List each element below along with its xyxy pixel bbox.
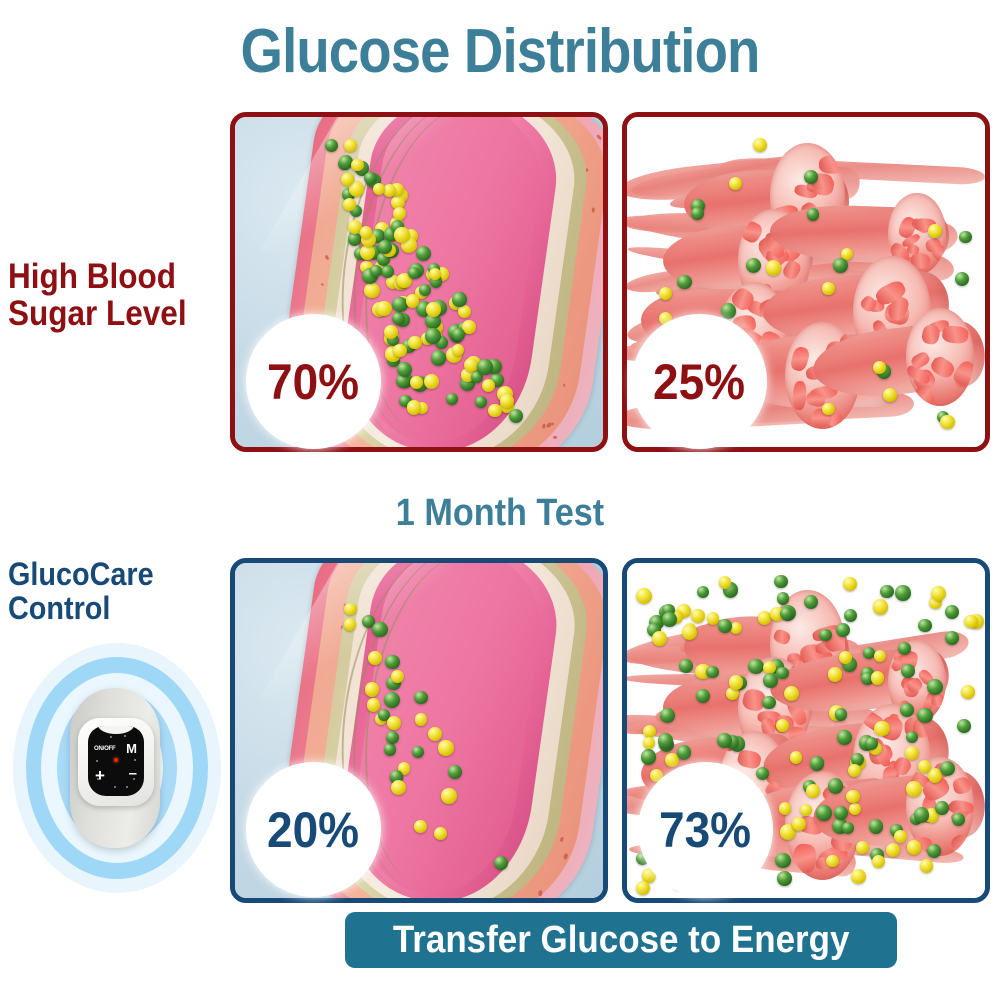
glucose-molecule xyxy=(775,853,790,868)
glucose-molecule xyxy=(488,404,501,417)
glucose-molecule xyxy=(753,138,767,152)
glucose-molecule xyxy=(636,881,650,895)
glucose-molecule xyxy=(729,675,743,689)
glucose-molecule xyxy=(763,673,778,688)
glucose-molecule xyxy=(776,719,789,732)
row-label-glucocare-control: GlucoCare Control xyxy=(8,558,215,626)
glucose-molecule xyxy=(415,713,427,725)
glucose-molecule xyxy=(384,692,400,708)
glucose-molecule xyxy=(378,240,392,254)
glucose-molecule xyxy=(822,403,834,415)
glucose-molecule xyxy=(918,760,931,773)
glucose-molecule xyxy=(360,226,372,238)
percentage-badge-20: 20% xyxy=(246,762,381,897)
glucose-molecule xyxy=(927,679,943,695)
percentage-badge-70: 70% xyxy=(246,314,381,449)
glucose-molecule xyxy=(717,733,732,748)
glucose-molecule xyxy=(652,631,667,646)
glucose-molecule xyxy=(376,301,391,316)
glucose-molecule xyxy=(917,708,932,723)
glucose-molecule xyxy=(351,159,364,172)
glucose-molecule xyxy=(833,258,848,273)
glucose-molecule xyxy=(660,708,675,723)
glucose-molecule xyxy=(931,586,946,601)
glucose-molecule xyxy=(410,376,423,389)
glucose-molecule xyxy=(940,415,954,429)
glucose-molecule xyxy=(697,586,709,598)
glucose-molecule xyxy=(677,745,691,759)
glucose-molecule xyxy=(959,231,971,243)
glucose-molecule xyxy=(643,725,656,738)
glucose-molecule xyxy=(494,856,508,870)
glucose-molecule xyxy=(907,840,921,854)
glucose-molecule xyxy=(718,619,731,632)
glucose-molecule xyxy=(906,781,922,797)
glucose-molecule xyxy=(835,708,847,720)
glucose-molecule xyxy=(416,246,431,261)
glucose-molecule xyxy=(790,751,803,764)
bottom-banner: Transfer Glucose to Energy xyxy=(345,912,897,968)
glucose-molecule xyxy=(477,359,493,375)
glucose-molecule xyxy=(452,292,466,306)
device-on-off-button[interactable]: ON/OFF xyxy=(94,746,115,752)
percentage-badge-73: 73% xyxy=(638,762,773,897)
glucose-molecule xyxy=(393,344,406,357)
glucose-molecule xyxy=(920,859,933,872)
glucose-molecule xyxy=(438,740,453,755)
page-title: Glucose Distribution xyxy=(60,16,940,87)
glucose-molecule xyxy=(428,727,442,741)
glucose-molecule xyxy=(918,619,932,633)
glucose-molecule xyxy=(407,400,422,415)
glucose-molecule xyxy=(393,207,406,220)
row-label-high-blood-sugar: High Blood Sugar Level xyxy=(8,258,215,332)
glucose-molecule xyxy=(344,603,356,615)
glucose-molecule xyxy=(844,609,857,622)
glucose-molecule xyxy=(880,585,894,599)
glucose-molecule xyxy=(955,272,969,286)
glucose-molecule xyxy=(384,743,397,756)
glucose-molecule xyxy=(706,666,718,678)
glucose-molecule xyxy=(928,224,942,238)
glucose-molecule xyxy=(900,703,914,717)
glucose-molecule xyxy=(408,336,421,349)
glucose-molecule xyxy=(391,780,406,795)
glucose-molecule xyxy=(748,659,763,674)
glucose-molecule xyxy=(431,350,446,365)
percentage-badge-25: 25% xyxy=(632,314,767,449)
glucose-molecule xyxy=(365,682,379,696)
glucocare-device-image: ON/OFF M + – xyxy=(12,640,222,895)
glucose-molecule xyxy=(677,275,691,289)
glucose-molecule xyxy=(927,844,941,858)
glucose-molecule xyxy=(360,245,375,260)
glucose-molecule xyxy=(394,227,409,242)
glucose-molecule xyxy=(826,855,839,868)
glucose-molecule xyxy=(914,807,930,823)
glucose-molecule xyxy=(898,642,911,655)
glucose-molecule xyxy=(873,361,886,374)
glucose-molecule xyxy=(792,817,806,831)
glucose-molecule xyxy=(777,871,792,886)
glucose-molecule xyxy=(848,764,861,777)
glucose-molecule xyxy=(641,749,656,764)
glucose-molecule xyxy=(368,651,381,664)
glucose-molecule xyxy=(370,265,382,277)
device-control-panel: ON/OFF M + – xyxy=(88,726,144,796)
glucose-molecule xyxy=(961,685,975,699)
glucose-molecule xyxy=(414,691,428,705)
glucose-molecule xyxy=(873,599,888,614)
glucose-molecule xyxy=(874,721,890,737)
glucose-molecule xyxy=(387,716,401,730)
glucose-molecule xyxy=(957,719,971,733)
glucose-molecule xyxy=(816,805,831,820)
middle-label-1-month-test: 1 Month Test xyxy=(50,492,950,535)
glucose-molecule xyxy=(397,362,412,377)
glucose-molecule xyxy=(367,698,381,712)
glucose-molecule xyxy=(364,172,377,185)
glucose-molecule xyxy=(945,631,959,645)
glucose-molecule xyxy=(849,803,861,815)
glucose-molecule xyxy=(341,173,354,186)
device-mode-button[interactable]: M xyxy=(126,742,137,755)
glucose-molecule xyxy=(425,328,441,344)
glucose-molecule xyxy=(343,198,356,211)
glucose-molecule xyxy=(842,822,854,834)
glucose-molecule xyxy=(828,667,842,681)
glucose-molecule xyxy=(839,651,852,664)
glucose-molecule xyxy=(819,629,831,641)
glucose-molecule xyxy=(762,696,775,709)
glucose-molecule xyxy=(662,612,677,627)
device-led-indicator xyxy=(114,758,118,762)
glucose-molecule xyxy=(721,303,737,319)
glucose-molecule xyxy=(834,806,848,820)
glucose-molecule xyxy=(810,756,825,771)
glucose-molecule xyxy=(441,788,457,804)
glucose-molecule xyxy=(779,802,791,814)
glucose-molecule xyxy=(871,671,884,684)
glucose-molecule xyxy=(836,623,850,637)
glucose-molecule xyxy=(894,830,907,843)
glucose-molecule xyxy=(643,737,655,749)
glucose-molecule xyxy=(780,607,793,620)
glucose-molecule xyxy=(424,374,439,389)
glucose-molecule xyxy=(392,312,405,325)
glucose-molecule xyxy=(719,576,731,588)
glucose-molecule xyxy=(381,265,394,278)
glucose-molecule xyxy=(766,260,781,275)
device-plus-button[interactable]: + xyxy=(95,767,105,784)
glucose-molecule xyxy=(883,388,897,402)
glucose-molecule xyxy=(828,778,844,794)
glucose-molecule xyxy=(869,819,883,833)
glucose-molecule xyxy=(691,609,704,622)
glucose-molecule xyxy=(658,733,673,748)
glucose-molecule xyxy=(777,592,789,604)
glucose-molecule xyxy=(774,575,788,589)
glucose-molecule xyxy=(776,667,789,680)
glucose-molecule xyxy=(807,208,820,221)
glucose-molecule xyxy=(964,615,978,629)
glucose-molecule xyxy=(822,282,834,294)
glucose-molecule xyxy=(846,790,860,804)
glucose-molecule xyxy=(426,302,440,316)
glucose-molecule xyxy=(895,585,911,601)
